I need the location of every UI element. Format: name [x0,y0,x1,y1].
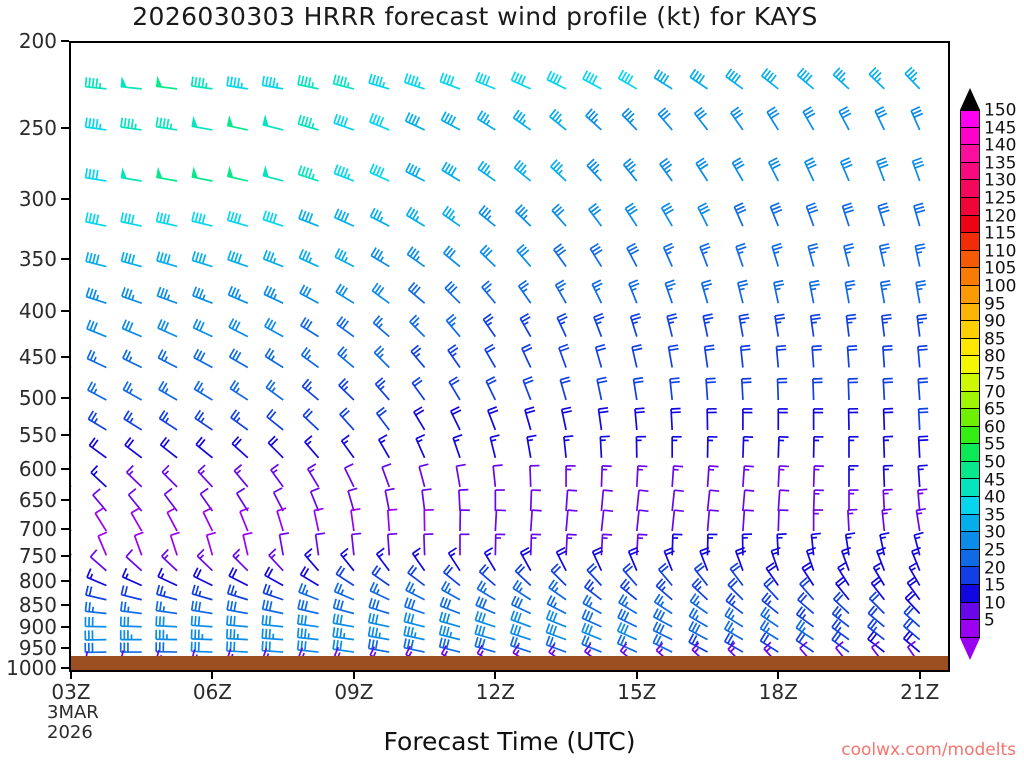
plot-area [69,41,950,672]
wind-barb [531,490,541,511]
wind-barb [265,348,283,367]
x-tick-mark [353,672,355,679]
wind-barb [916,281,926,303]
wind-barb [123,568,142,585]
wind-barb [592,280,602,303]
wind-barb [405,598,425,614]
wind-barb [227,167,247,181]
wind-barb [814,510,824,531]
wind-barb [527,435,536,457]
wind-barb [414,407,425,430]
wind-barb [884,409,894,430]
wind-barb [88,382,107,400]
colorbar: 1501451401351301251201151101051009590858… [958,88,1024,648]
wind-barb [517,244,531,266]
wind-barb [476,72,495,89]
wind-barb [406,112,425,129]
colorbar-swatch [960,321,980,339]
colorbar-label: 30 [984,525,1006,542]
wind-barb [195,410,212,430]
wind-barb [369,613,390,627]
wind-barb [263,116,283,130]
wind-barb [624,159,637,181]
wind-barb [869,67,884,88]
wind-barb [379,435,390,458]
y-tick-mark [61,434,69,436]
plot-clip [71,43,948,670]
wind-barb [883,346,893,368]
x-tick-label: 18Z [759,682,798,702]
colorbar-label: 55 [984,437,1006,454]
y-tick-mark [61,604,69,606]
colorbar-swatch [960,603,980,621]
wind-barb [121,212,142,226]
wind-barb [121,602,142,614]
wind-barb [552,204,566,226]
wind-barb [916,509,925,531]
wind-barb [705,345,715,367]
wind-barb [444,246,460,267]
wind-barb [493,465,502,487]
wind-barb [374,346,389,368]
wind-barb [708,510,719,531]
wind-barb [562,407,572,430]
wind-barb [301,567,319,586]
wind-barb [121,585,141,599]
wind-barb [232,437,248,458]
colorbar-label: 5 [984,613,995,630]
wind-barb [87,569,106,586]
wind-barb [778,437,788,458]
wind-barb [670,378,680,400]
colorbar-swatch [960,163,980,181]
wind-barb [743,490,754,511]
wind-barb [233,549,248,571]
wind-barb [566,510,577,531]
wind-barb [93,489,107,511]
wind-barb [762,68,779,88]
wind-barb [849,466,859,487]
wind-barb [690,69,707,89]
wind-barb [87,350,106,367]
colorbar-label: 110 [984,243,1016,260]
wind-barb [445,282,460,304]
wind-barb [810,281,820,303]
x-tick-label: 06Z [193,682,232,702]
wind-barb [345,464,354,487]
wind-barb [369,627,390,640]
colorbar-label: 35 [984,507,1006,524]
colorbar-swatch [960,479,980,497]
wind-barb [370,582,389,599]
wind-barb [162,465,177,487]
wind-barb [404,626,425,640]
wind-barb [631,314,641,337]
y-tick-label: 500 [0,388,57,408]
wind-barb [911,107,923,130]
wind-barb [849,490,859,511]
wind-barb [263,600,284,614]
colorbar-label: 95 [984,296,1006,313]
colorbar-swatch [960,567,980,585]
wind-barb [777,534,786,555]
wind-barb [805,158,817,181]
y-tick-label: 700 [0,519,57,539]
wind-barb [775,314,785,336]
wind-barb [352,533,361,555]
wind-barb [637,466,648,487]
colorbar-swatch [960,444,980,462]
wind-barb [412,377,424,400]
wind-barb [637,534,648,555]
colorbar-swatch [960,145,980,163]
wind-barb [918,489,927,511]
wind-barb [91,550,107,571]
colorbar-strip [960,110,980,638]
wind-barb [192,585,212,600]
wind-barb [230,381,248,400]
wind-barb [625,203,637,226]
wind-barb [406,582,425,600]
wind-barb [622,108,637,130]
y-tick-mark [61,580,69,582]
wind-barb [167,508,177,531]
wind-barb [449,548,460,571]
wind-barb [738,281,748,304]
wind-barb [388,509,397,531]
wind-barb [587,159,601,181]
wind-barb [227,629,248,640]
y-tick-mark [61,198,69,200]
wind-barb [86,168,107,181]
wind-barb [298,75,319,89]
colorbar-label: 65 [984,402,1006,419]
wind-barb [121,630,142,640]
wind-barb [478,161,495,181]
wind-barb [305,549,319,571]
wind-barb [449,377,460,400]
wind-barb [265,567,283,585]
wind-barb [566,466,576,487]
wind-barb [230,349,248,368]
wind-barb [883,490,892,511]
wind-barb [302,347,319,367]
wind-barb [196,437,212,458]
wind-barb [161,437,178,457]
colorbar-swatch [960,585,980,603]
wind-barb [525,407,535,430]
wind-barb [634,378,644,400]
wind-barb [369,74,389,89]
colorbar-swatch [960,233,980,251]
wind-barb [590,244,602,267]
colorbar-label: 145 [984,120,1016,137]
wind-barb [743,510,754,531]
wind-barb [207,533,216,556]
wind-barb [485,548,496,571]
wind-profile-chart: 2026030303 HRRR forecast wind profile (k… [0,0,1024,768]
wind-barb [583,71,602,89]
wind-barb [734,203,746,226]
wind-barb [85,602,106,614]
wind-barb [514,110,531,130]
wind-barb [227,615,248,626]
wind-barb [274,488,284,511]
wind-barb [706,378,716,400]
y-tick-mark [61,127,69,129]
wind-barb [530,466,540,487]
wind-barb [619,70,637,89]
wind-barb [601,510,613,531]
colorbar-swatch [960,532,980,550]
wind-barb [157,585,177,600]
wind-barb [243,533,252,556]
wind-barb [121,77,142,89]
wind-barb [479,206,495,227]
wind-barb [194,349,213,367]
colorbar-label: 50 [984,455,1006,472]
wind-barb [557,314,567,337]
wind-barb [121,118,142,130]
wind-barb [877,158,888,181]
wind-barb [629,280,639,303]
wind-barb [263,211,283,227]
colorbar-label: 60 [984,419,1006,436]
wind-barb [913,158,924,181]
wind-barb [905,592,919,614]
wind-barb [339,379,354,400]
wind-barb [234,465,247,487]
wind-barb [480,245,495,266]
y-tick-mark [61,40,69,42]
wind-barb [478,111,496,130]
wind-barb [842,548,851,571]
colorbar-label: 75 [984,367,1006,384]
wind-barb [156,601,177,613]
y-tick-mark [61,356,69,358]
wind-barb [483,314,495,337]
colorbar-label: 40 [984,490,1006,507]
wind-barb [338,347,354,368]
wind-barb [371,208,390,226]
wind-barb [627,244,639,267]
x-tick-label: 15Z [617,682,656,702]
wind-barb [726,69,743,89]
wind-barb [228,211,248,226]
colorbar-label: 115 [984,226,1016,243]
wind-barb [778,490,789,511]
wind-barb [263,584,283,600]
wind-barb [298,600,318,614]
wind-barb [731,107,743,130]
wind-barb [333,627,354,639]
colorbar-label: 70 [984,384,1006,401]
wind-barb [918,378,928,400]
wind-barb [456,465,465,487]
wind-barb [597,377,607,400]
wind-barb [767,107,779,130]
wind-barb [123,381,141,399]
wind-barb [419,464,428,487]
wind-barb [135,532,144,555]
wind-barb [303,409,318,430]
wind-barb [559,345,569,368]
wind-barb [264,250,284,266]
wind-barb [778,409,788,430]
wind-barb [778,379,788,400]
wind-barb [880,244,890,267]
wind-barb [122,287,142,303]
wind-barb [85,617,106,627]
y-tick-label: 200 [0,31,57,51]
wind-barb [566,534,577,555]
wind-barb [557,548,567,571]
wind-barb [636,437,646,458]
wind-barb [314,509,323,532]
watermark: coolwx.com/modelts [841,740,1016,760]
wind-barb [385,489,394,511]
wind-barb [915,244,925,267]
wind-barb [280,533,289,555]
wind-barb [194,381,212,400]
wind-barb [708,466,719,487]
wind-barb [453,435,462,458]
x-tick-mark [494,672,496,679]
wind-barb [191,629,212,639]
wind-barb [229,568,248,586]
wind-barb [228,286,247,303]
colorbar-swatch [960,462,980,480]
wind-barb [342,435,354,458]
y-tick-label: 350 [0,249,57,269]
wind-barb [157,252,177,267]
wind-barb [158,349,177,367]
wind-barb [85,77,106,89]
y-tick-label: 750 [0,546,57,566]
wind-barb [512,72,531,89]
wind-barb [95,508,106,531]
wind-barb [85,643,106,653]
wind-barb [308,464,319,487]
colorbar-swatch [960,620,980,638]
wind-barb [299,165,319,181]
y-tick-mark [61,555,69,557]
wind-barb [881,281,891,303]
wind-barb [770,203,782,226]
wind-barb [237,488,248,511]
wind-barb [158,568,177,585]
x-tick-mark [211,672,213,679]
wind-barb [388,534,397,556]
wind-barb [334,165,354,181]
wind-barb [914,203,925,226]
wind-barb [87,320,106,337]
y-tick-mark [61,528,69,530]
wind-barb [671,408,681,429]
wind-barb [129,489,142,511]
wind-barb [878,203,889,226]
colorbar-swatch [960,427,980,445]
colorbar-swatch [960,409,980,427]
wind-barb [596,345,606,368]
wind-barb [440,73,460,89]
wind-barb [158,319,177,336]
wind-barb [123,350,142,368]
wind-barb [495,534,505,555]
wind-barb [672,490,684,511]
wind-barb [521,548,531,571]
colorbar-label: 100 [984,279,1016,296]
x-axis: 03Z06Z09Z12Z15Z18Z21Z [69,672,950,712]
wind-barb [404,612,424,626]
wind-barb [914,533,923,556]
wind-barb [845,281,855,303]
y-tick-label: 650 [0,490,57,510]
wind-barb [377,407,390,429]
wind-barb [372,283,389,303]
wind-barb [918,465,927,487]
wind-barb [193,287,213,303]
y-tick-label: 450 [0,347,57,367]
y-tick-mark [61,667,69,669]
wind-barb [849,409,859,430]
wind-barb [776,346,786,368]
wind-barb [229,319,248,337]
y-tick-mark [61,310,69,312]
wind-barb [377,548,390,570]
wind-barb [370,113,389,130]
wind-barb [263,76,284,89]
wind-barb [413,548,425,571]
wind-barb [277,508,286,531]
wind-barb [192,212,212,226]
wind-barb [192,251,212,266]
wind-barb [124,411,142,430]
wind-barb [875,107,887,130]
colorbar-label: 25 [984,543,1006,560]
y-tick-label: 250 [0,118,57,138]
wind-barb [121,617,142,627]
wind-barb [302,379,318,400]
wind-barb [877,548,886,571]
wind-barb [698,203,710,226]
wind-barb [669,345,679,367]
wind-barb [370,164,389,181]
wind-barb [373,316,389,337]
wind-barb [743,437,753,458]
wind-barb [268,436,283,458]
wind-barb [227,76,248,89]
wind-barb [842,203,853,226]
colorbar-label: 140 [984,138,1016,155]
wind-barb [601,490,612,511]
wind-barb [778,510,788,531]
wind-barb [299,583,319,599]
wind-barb [741,346,751,368]
wind-barb [742,379,752,400]
colorbar-label: 135 [984,155,1016,172]
colorbar-swatch [960,304,980,322]
y-tick-mark [61,499,69,501]
wind-barb [126,550,142,571]
wind-barb [460,510,470,531]
wind-barb [333,614,354,627]
wind-barb [848,346,858,368]
wind-barb [85,630,106,640]
colorbar-label: 130 [984,173,1016,190]
colorbar-over-arrow [960,88,980,111]
colorbar-label: 20 [984,560,1006,577]
